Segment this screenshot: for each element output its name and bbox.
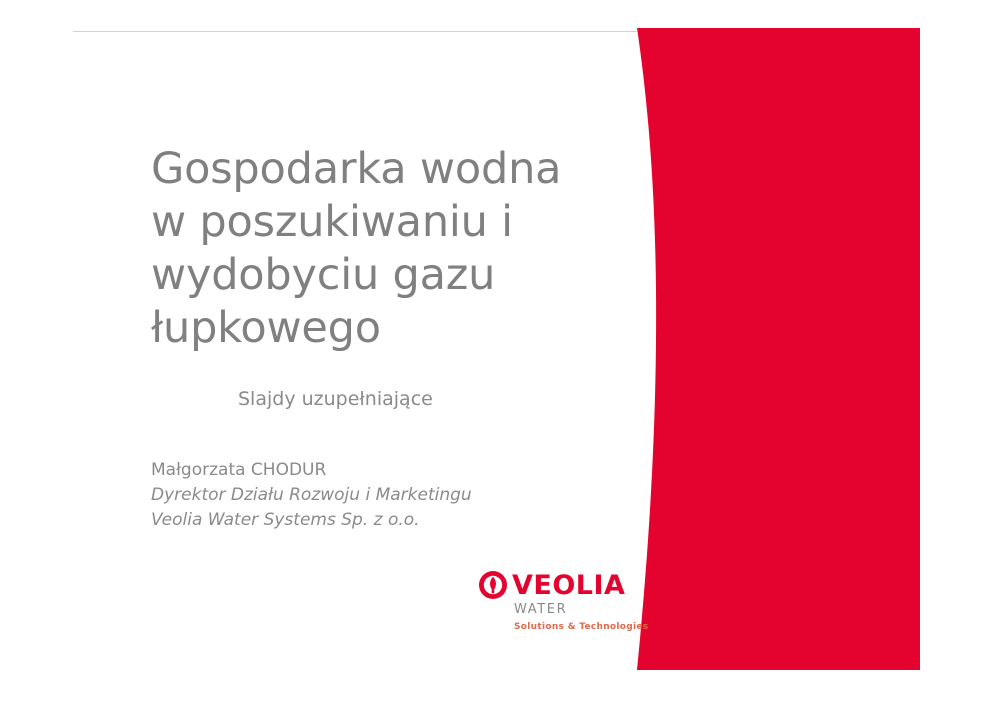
author-block: Małgorzata CHODUR Dyrektor Działu Rozwoj… <box>151 458 571 533</box>
author-name: Małgorzata CHODUR <box>151 458 571 483</box>
veolia-logo: VEOLIA WATER Solutions & Technologies <box>478 570 618 640</box>
author-company: Veolia Water Systems Sp. z o.o. <box>151 508 571 533</box>
slide-subtitle: Slajdy uzupełniające <box>238 387 433 411</box>
veolia-tagline: Solutions & Technologies <box>514 622 648 632</box>
presentation-slide: Gospodarka wodna w poszukiwaniu i wydoby… <box>0 0 992 701</box>
veolia-wordmark: VEOLIA <box>512 572 625 599</box>
red-decorative-panel <box>600 28 920 670</box>
page-title: Gospodarka wodna w poszukiwaniu i wydoby… <box>151 143 621 355</box>
author-role: Dyrektor Działu Rozwoju i Marketingu <box>151 483 571 508</box>
title-block: Gospodarka wodna w poszukiwaniu i wydoby… <box>151 143 621 355</box>
top-rule-divider <box>73 31 637 32</box>
logo-primary-row: VEOLIA <box>478 570 625 600</box>
veolia-division-label: WATER <box>514 602 567 617</box>
veolia-mark-icon <box>478 570 508 600</box>
